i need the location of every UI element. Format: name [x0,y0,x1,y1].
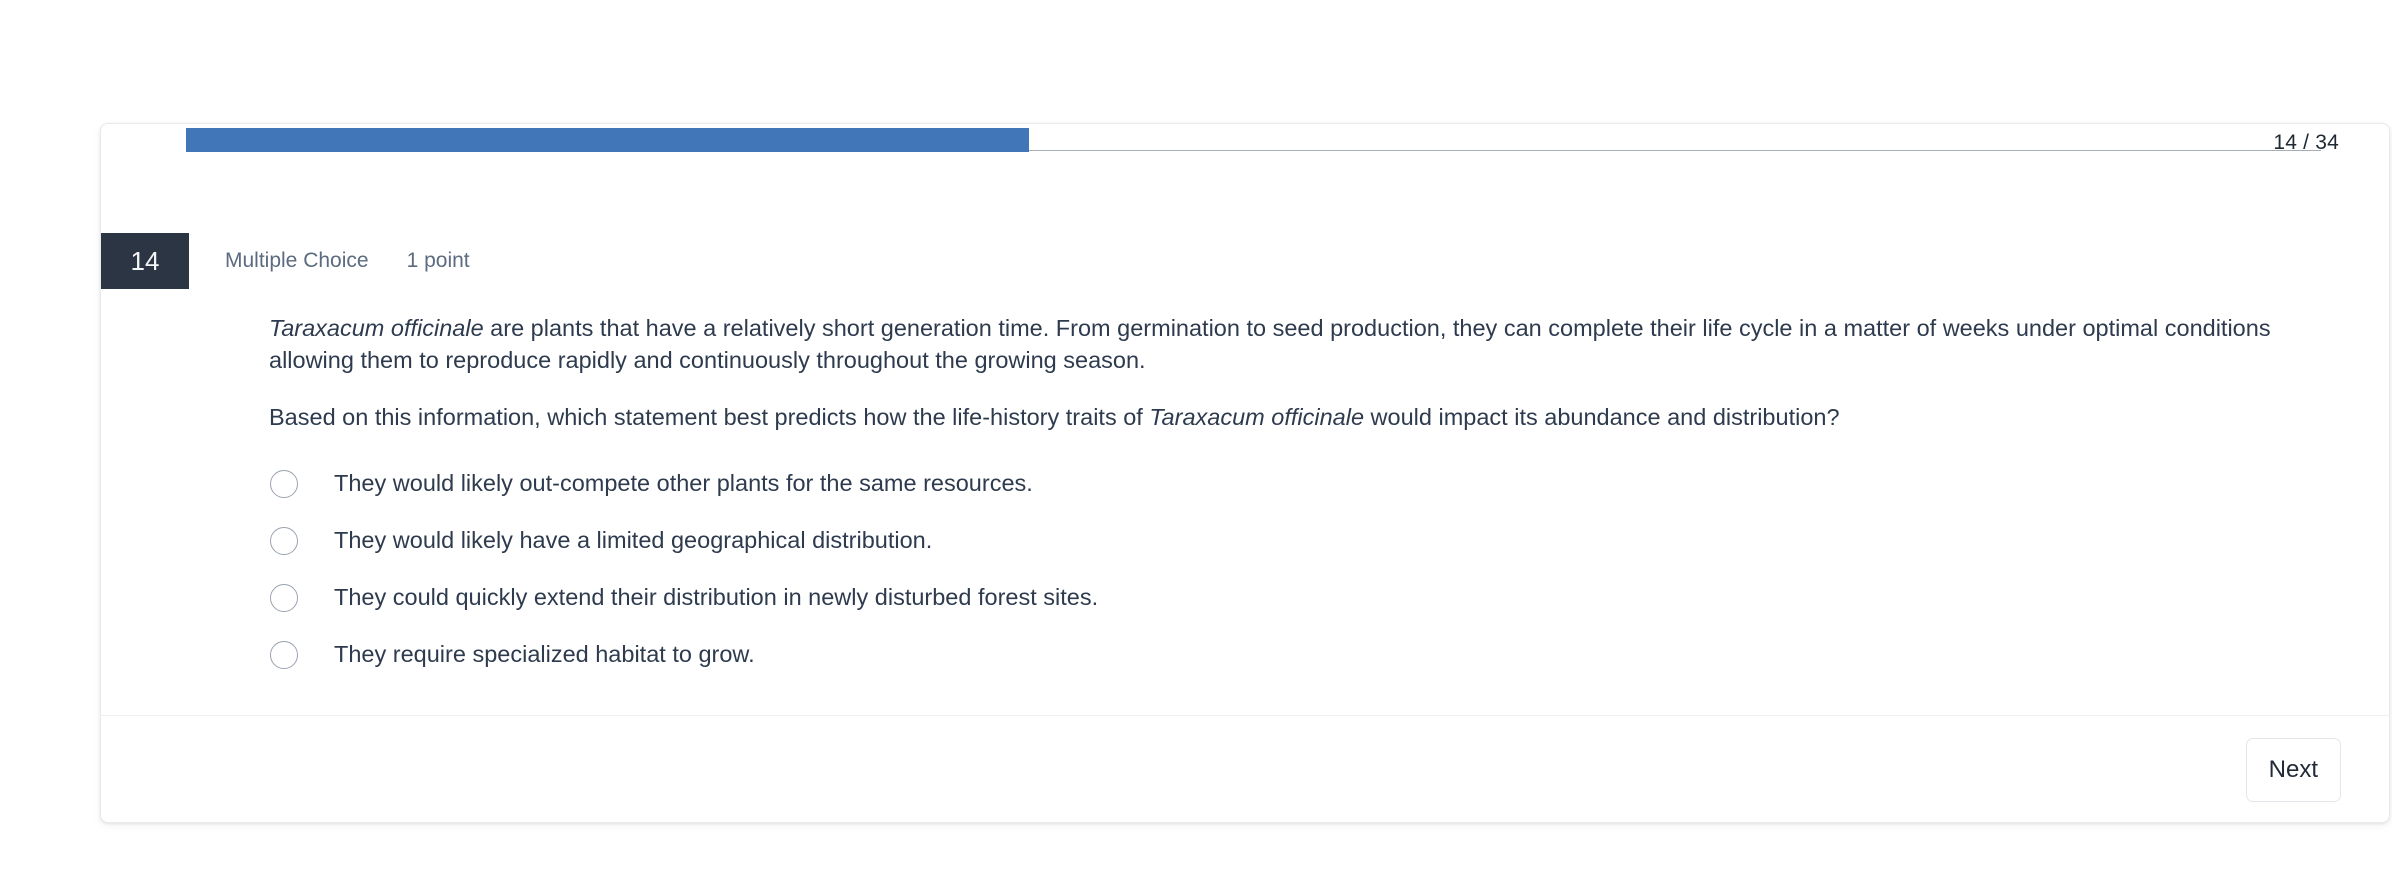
answer-options: They would likely out-compete other plan… [269,455,2329,683]
question-header: 14 Multiple Choice 1 point [101,233,470,289]
prompt-species-name: Taraxacum officinale [1149,404,1364,430]
progress-counter: 14 / 34 [2273,131,2339,155]
next-button[interactable]: Next [2246,738,2341,802]
option-label[interactable]: They would likely have a limited geograp… [334,527,932,554]
prompt-text-before: Based on this information, which stateme… [269,404,1149,430]
stem-text: are plants that have a relatively short … [269,315,2271,373]
quiz-page: 14 / 34 14 Multiple Choice 1 point Tarax… [0,0,2392,896]
question-body: Taraxacum officinale are plants that hav… [269,312,2329,683]
option-row[interactable]: They require specialized habitat to grow… [269,626,2329,683]
question-number-badge: 14 [101,233,189,289]
question-card: 14 / 34 14 Multiple Choice 1 point Tarax… [100,123,2390,823]
card-footer: Next [101,716,2389,823]
question-points-label: 1 point [407,249,470,273]
radio-button-icon[interactable] [270,527,298,555]
option-label[interactable]: They require specialized habitat to grow… [334,641,755,668]
radio-button-icon[interactable] [270,584,298,612]
option-row[interactable]: They would likely have a limited geograp… [269,512,2329,569]
radio-button-icon[interactable] [270,641,298,669]
option-label[interactable]: They would likely out-compete other plan… [334,470,1033,497]
question-prompt: Based on this information, which stateme… [269,401,2329,433]
question-type-label: Multiple Choice [225,249,369,273]
radio-button-icon[interactable] [270,470,298,498]
question-stem: Taraxacum officinale are plants that hav… [269,312,2329,377]
progress-bar: 14 / 34 [101,124,2389,196]
option-label[interactable]: They could quickly extend their distribu… [334,584,1098,611]
question-meta: Multiple Choice 1 point [225,249,470,273]
stem-species-name: Taraxacum officinale [269,315,484,341]
prompt-text-after: would impact its abundance and distribut… [1364,404,1840,430]
option-row[interactable]: They would likely out-compete other plan… [269,455,2329,512]
progress-fill [186,128,1029,152]
option-row[interactable]: They could quickly extend their distribu… [269,569,2329,626]
